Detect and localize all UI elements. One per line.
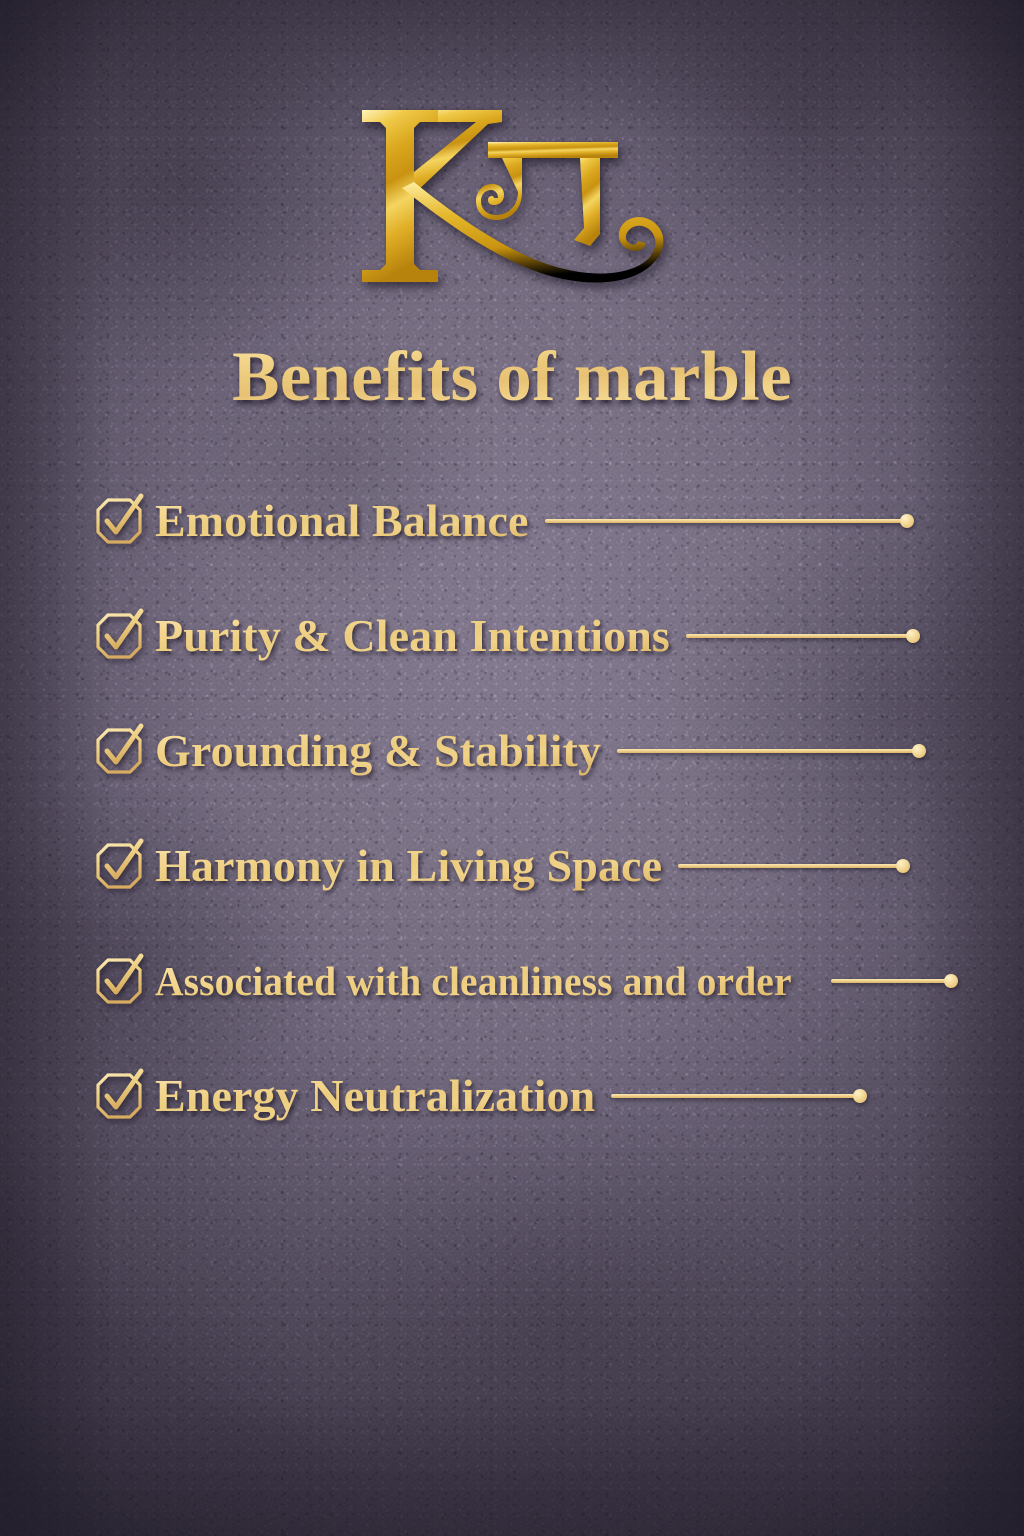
checked-checkbox-icon[interactable] bbox=[96, 498, 142, 544]
connector-dot bbox=[853, 1089, 867, 1103]
connector-line bbox=[617, 744, 926, 758]
connector-dot bbox=[912, 744, 926, 758]
connector-dot bbox=[906, 629, 920, 643]
list-item-label: Purity & Clean Intentions bbox=[155, 609, 670, 662]
list-item-label: Harmony in Living Space bbox=[155, 839, 662, 892]
connector-bar bbox=[686, 634, 909, 638]
connector-bar bbox=[611, 1094, 856, 1098]
checked-checkbox-icon[interactable] bbox=[96, 728, 142, 774]
connector-line bbox=[686, 629, 920, 643]
list-item-label: Emotional Balance bbox=[155, 494, 529, 547]
list-item: Associated with cleanliness and order bbox=[96, 952, 972, 1009]
connector-line bbox=[678, 859, 910, 873]
connector-line bbox=[545, 514, 914, 528]
list-item: Harmony in Living Space bbox=[96, 837, 972, 894]
list-item: Grounding & Stability bbox=[96, 722, 972, 779]
brand-logo bbox=[0, 96, 1024, 296]
poster-canvas: Benefits of marble Emotional Balan bbox=[0, 0, 1024, 1536]
list-item: Purity & Clean Intentions bbox=[96, 607, 972, 664]
connector-bar bbox=[831, 979, 947, 983]
benefits-list: Emotional Balance Purity & Clean Intenti… bbox=[96, 492, 972, 1124]
gold-monogram-k-logo-icon bbox=[342, 96, 682, 296]
connector-bar bbox=[545, 519, 903, 523]
connector-line bbox=[831, 974, 958, 988]
page-title: Benefits of marble bbox=[0, 340, 1024, 415]
list-item-label: Energy Neutralization bbox=[155, 1069, 595, 1122]
checked-checkbox-icon[interactable] bbox=[96, 958, 142, 1004]
connector-bar bbox=[617, 749, 915, 753]
connector-line bbox=[611, 1089, 867, 1103]
list-item-label: Associated with cleanliness and order bbox=[155, 957, 792, 1005]
list-item-label: Grounding & Stability bbox=[155, 724, 601, 777]
list-item: Energy Neutralization bbox=[96, 1067, 972, 1124]
checked-checkbox-icon[interactable] bbox=[96, 843, 142, 889]
connector-bar bbox=[678, 864, 899, 868]
list-item: Emotional Balance bbox=[96, 492, 972, 549]
checked-checkbox-icon[interactable] bbox=[96, 1073, 142, 1119]
connector-dot bbox=[896, 859, 910, 873]
checked-checkbox-icon[interactable] bbox=[96, 613, 142, 659]
connector-dot bbox=[900, 514, 914, 528]
connector-dot bbox=[944, 974, 958, 988]
